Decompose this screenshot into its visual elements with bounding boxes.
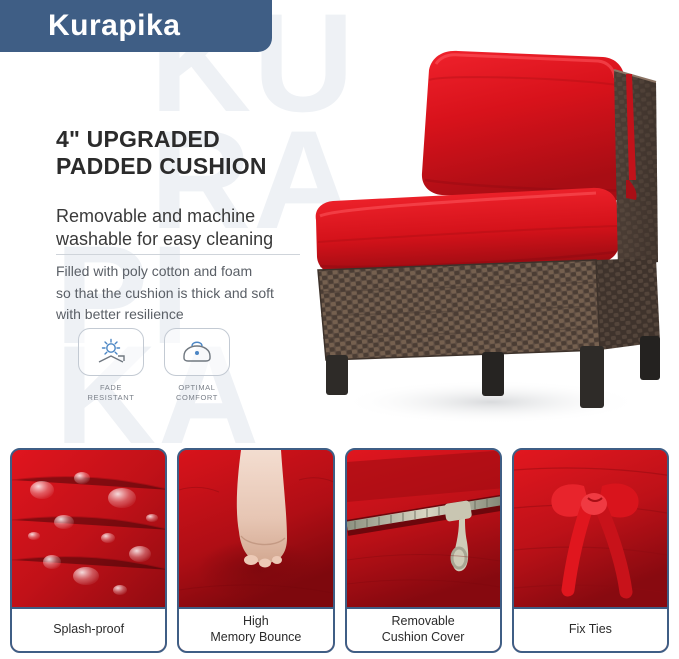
tile-caption: Removable Cushion Cover: [347, 607, 500, 651]
splash-proof-tile: Splash-proof: [10, 448, 167, 653]
fix-ties-tile: Fix Ties: [512, 448, 669, 653]
badge-fade-resistant: FADE RESISTANT: [75, 328, 147, 403]
product-image: [296, 30, 679, 430]
back-cushion: [416, 51, 628, 202]
tile-caption: Splash-proof: [12, 607, 165, 651]
tile-caption: Fix Ties: [514, 607, 667, 651]
headline: 4" UPGRADED PADDED CUSHION: [56, 126, 267, 180]
copy-divider: [56, 254, 300, 255]
cushion-comfort-icon: [179, 338, 215, 366]
memory-bounce-tile: High Memory Bounce: [177, 448, 334, 653]
foot-shape: [237, 450, 287, 568]
feature-badges: FADE RESISTANT OPTIMAL COMFORT: [75, 328, 233, 403]
badge-box: [78, 328, 144, 376]
badge-label: FADE RESISTANT: [88, 383, 135, 403]
tile-photo: [179, 450, 332, 607]
tile-caption: High Memory Bounce: [179, 607, 332, 651]
badge-label: OPTIMAL COMFORT: [176, 383, 218, 403]
sun-fade-resistant-icon: [94, 338, 128, 366]
brand-tab: Kurapika: [0, 0, 272, 52]
wicker-base: [318, 258, 660, 360]
tile-photo: [12, 450, 165, 607]
brand-name: Kurapika: [48, 9, 180, 43]
tile-photo: [514, 450, 667, 607]
body-copy: Filled with poly cotton and foam so that…: [56, 261, 274, 326]
tile-photo: [347, 450, 500, 607]
removable-cover-tile: Removable Cushion Cover: [345, 448, 502, 653]
badge-optimal-comfort: OPTIMAL COMFORT: [161, 328, 233, 403]
subheadline: Removable and machine washable for easy …: [56, 205, 273, 252]
badge-box: [164, 328, 230, 376]
wicker-side-panel: [614, 70, 658, 268]
feature-tile-strip: Splash-proof: [10, 448, 669, 649]
